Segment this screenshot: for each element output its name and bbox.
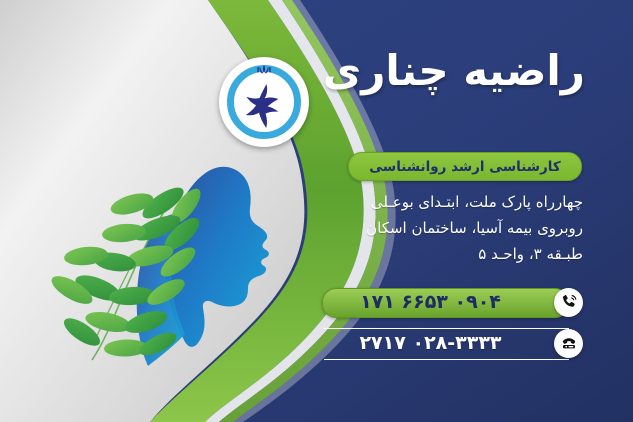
org-logo (219, 57, 309, 147)
profession-label: کارشناسی ارشد روانشناسی (369, 159, 560, 175)
page-title: راضیه چناری (325, 50, 585, 92)
address-block: چهارراه پارک ملت، ابتـدای بوعـلی روبروی … (313, 190, 583, 267)
mobile-phone-row[interactable]: ۰۹۰۴ ۶۶۵۳ ۱۷۱ (311, 286, 583, 318)
landline-phone-number: ۰۲۸-۳۳۳۳ ۲۷۱۷ (311, 332, 554, 354)
business-card: راضیه چناری کارشناسی ارشد روانشناسی چهار… (0, 0, 633, 422)
address-line-2: روبروی بیمه آسیا، ساختمان اسکان (313, 216, 583, 242)
landline-phone-row[interactable]: ۰۲۸-۳۳۳۳ ۲۷۱۷ (311, 327, 583, 359)
address-line-3: طبـقه ۳، واحـد ۵ (313, 242, 583, 268)
contact-block: ۰۹۰۴ ۶۶۵۳ ۱۷۱ ۰۲۸-۳۳۳۳ ۲۷۱۷ (311, 286, 583, 368)
dove-icon (236, 77, 292, 133)
mobile-phone-number: ۰۹۰۴ ۶۶۵۳ ۱۷۱ (311, 291, 554, 313)
profession-badge: کارشناسی ارشد روانشناسی (348, 152, 582, 181)
landline-phone-icon (554, 329, 583, 358)
address-line-1: چهارراه پارک ملت، ابتـدای بوعـلی (313, 190, 583, 216)
mobile-phone-icon (554, 288, 583, 317)
